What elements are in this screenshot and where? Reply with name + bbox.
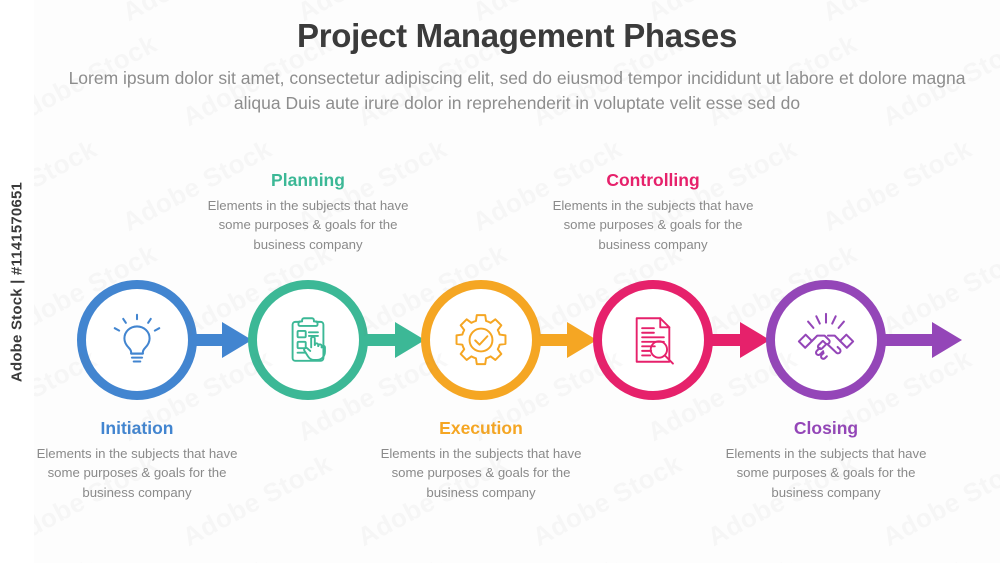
gear-check-icon	[451, 310, 511, 370]
lightbulb-icon	[106, 309, 168, 371]
phase-caption-closing: Closing Elements in the subjects that ha…	[711, 418, 941, 502]
phase-node-initiation[interactable]	[77, 280, 197, 400]
stock-credit-bar: Adobe Stock | #1141570651	[0, 0, 34, 563]
phase-description-closing: Elements in the subjects that have some …	[711, 444, 941, 502]
phase-caption-controlling: Controlling Elements in the subjects tha…	[538, 170, 768, 254]
phase-label-planning: Planning	[193, 170, 423, 190]
phases-timeline: Initiation Elements in the subjects that…	[0, 0, 1000, 563]
arrow-connector-initiation	[193, 322, 252, 358]
phase-caption-planning: Planning Elements in the subjects that h…	[193, 170, 423, 254]
phase-caption-execution: Execution Elements in the subjects that …	[366, 418, 596, 502]
clipboard-hand-icon	[279, 311, 337, 369]
phase-description-controlling: Elements in the subjects that have some …	[538, 196, 768, 254]
phase-node-controlling[interactable]	[593, 280, 713, 400]
document-search-icon	[624, 311, 682, 369]
phase-node-execution[interactable]	[421, 280, 541, 400]
phase-label-initiation: Initiation	[22, 418, 252, 438]
stock-credit-text: Adobe Stock | #1141570651	[9, 181, 26, 381]
phase-description-execution: Elements in the subjects that have some …	[366, 444, 596, 502]
phase-label-execution: Execution	[366, 418, 596, 438]
arrow-connector-closing	[882, 322, 962, 358]
arrow-connector-planning	[364, 322, 425, 358]
phase-node-planning[interactable]	[248, 280, 368, 400]
arrow-connector-controlling	[709, 322, 770, 358]
phase-caption-initiation: Initiation Elements in the subjects that…	[22, 418, 252, 502]
handshake-icon	[795, 309, 857, 371]
phase-node-closing[interactable]	[766, 280, 886, 400]
phase-description-initiation: Elements in the subjects that have some …	[22, 444, 252, 502]
phase-description-planning: Elements in the subjects that have some …	[193, 196, 423, 254]
arrow-connector-execution	[537, 322, 597, 358]
phase-label-closing: Closing	[711, 418, 941, 438]
phase-label-controlling: Controlling	[538, 170, 768, 190]
